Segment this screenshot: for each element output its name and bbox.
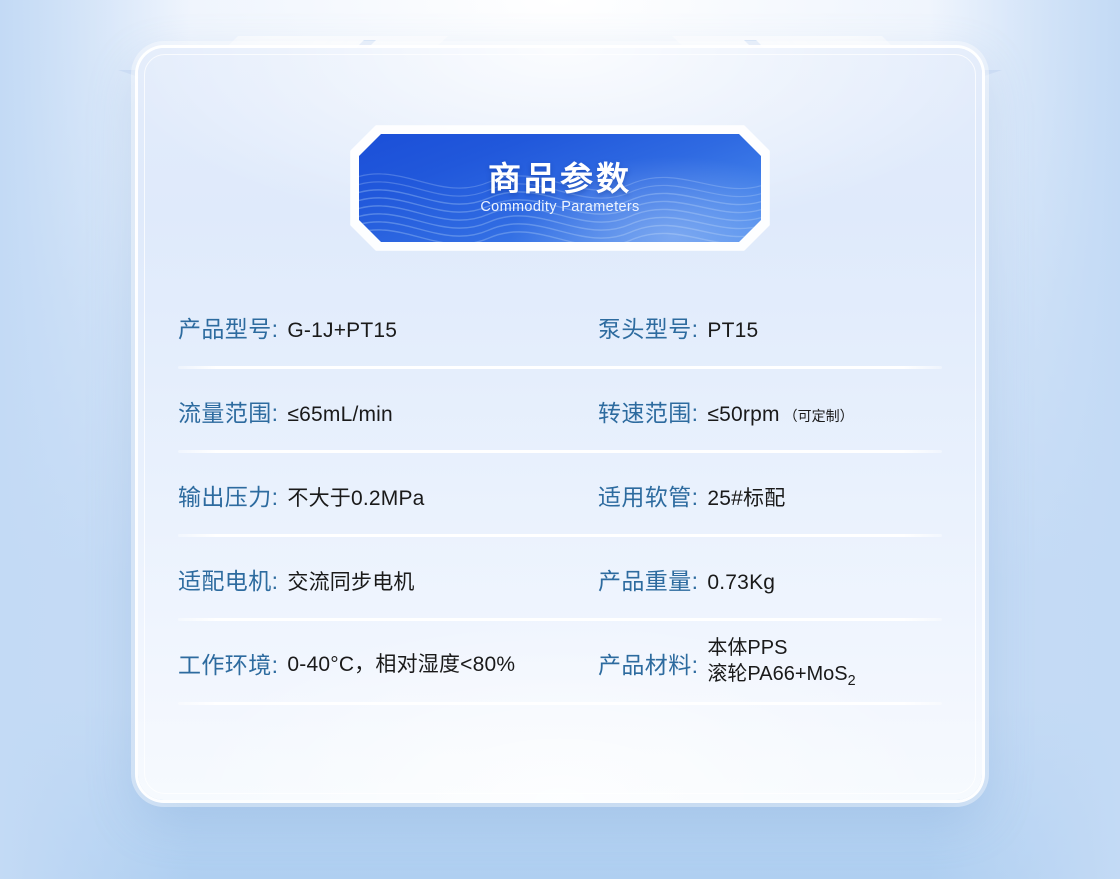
spec-value: 不大于0.2MPa (287, 482, 424, 512)
spec-cell-output-pressure: 输出压力: 不大于0.2MPa (178, 478, 598, 512)
spec-label: 输出压力: (178, 478, 278, 512)
spec-cell-product-model: 产品型号: G-1J+PT15 (178, 310, 598, 344)
spec-label: 产品重量: (598, 562, 698, 596)
spec-value-line-1: 本体PPS (707, 635, 855, 661)
section-title-banner: 商品参数 Commodity Parameters (350, 125, 770, 251)
spec-value: 0.73Kg (707, 571, 775, 595)
spec-label: 产品材料: (598, 646, 698, 680)
banner-text-group: 商品参数 Commodity Parameters (359, 134, 761, 242)
spec-row: 流量范围: ≤65mL/min 转速范围: ≤50rpm （可定制） (178, 369, 942, 453)
spec-value-line-2: 滚轮PA66+MoS2 (707, 661, 855, 691)
spec-value: 0-40°C，相对湿度<80% (287, 648, 515, 678)
spec-row: 输出压力: 不大于0.2MPa 适用软管: 25#标配 (178, 453, 942, 537)
spec-row: 工作环境: 0-40°C，相对湿度<80% 产品材料: 本体PPS 滚轮PA66… (178, 621, 942, 705)
spec-cell-product-material: 产品材料: 本体PPS 滚轮PA66+MoS2 (598, 635, 942, 691)
spec-cell-pump-head-model: 泵头型号: PT15 (598, 310, 942, 344)
spec-label: 泵头型号: (598, 310, 698, 344)
spec-value: 交流同步电机 (287, 566, 414, 596)
spec-value-multiline: 本体PPS 滚轮PA66+MoS2 (707, 635, 855, 691)
spec-row: 适配电机: 交流同步电机 产品重量: 0.73Kg (178, 537, 942, 621)
spec-cell-applicable-hose: 适用软管: 25#标配 (598, 478, 942, 512)
spec-label: 转速范围: (598, 394, 698, 428)
banner-title: 商品参数 (488, 161, 632, 197)
spec-label: 工作环境: (178, 646, 278, 680)
spec-value-line-2-text: 滚轮PA66+MoS (707, 663, 847, 685)
spec-label: 适用软管: (598, 478, 698, 512)
spec-value: G-1J+PT15 (287, 319, 397, 343)
spec-cell-speed-range: 转速范围: ≤50rpm （可定制） (598, 394, 942, 428)
spec-value: 25#标配 (707, 482, 785, 512)
spec-cell-product-weight: 产品重量: 0.73Kg (598, 562, 942, 596)
spec-label: 适配电机: (178, 562, 278, 596)
spec-label: 流量范围: (178, 394, 278, 428)
row-divider (178, 702, 942, 705)
spec-row: 产品型号: G-1J+PT15 泵头型号: PT15 (178, 285, 942, 369)
spec-cell-working-environment: 工作环境: 0-40°C，相对湿度<80% (178, 646, 598, 680)
spec-value: ≤65mL/min (287, 403, 393, 427)
banner-subtitle: Commodity Parameters (480, 199, 639, 215)
banner-body: 商品参数 Commodity Parameters (359, 134, 761, 242)
spec-cell-flow-range: 流量范围: ≤65mL/min (178, 394, 598, 428)
specs-table: 产品型号: G-1J+PT15 泵头型号: PT15 流量范围: ≤65mL/m… (178, 285, 942, 705)
spec-value: ≤50rpm (707, 403, 779, 427)
spec-label: 产品型号: (178, 310, 278, 344)
spec-value-line-2-subscript: 2 (848, 673, 856, 689)
spec-value-note: （可定制） (784, 406, 854, 426)
spec-cell-motor: 适配电机: 交流同步电机 (178, 562, 598, 596)
spec-value: PT15 (707, 319, 758, 343)
